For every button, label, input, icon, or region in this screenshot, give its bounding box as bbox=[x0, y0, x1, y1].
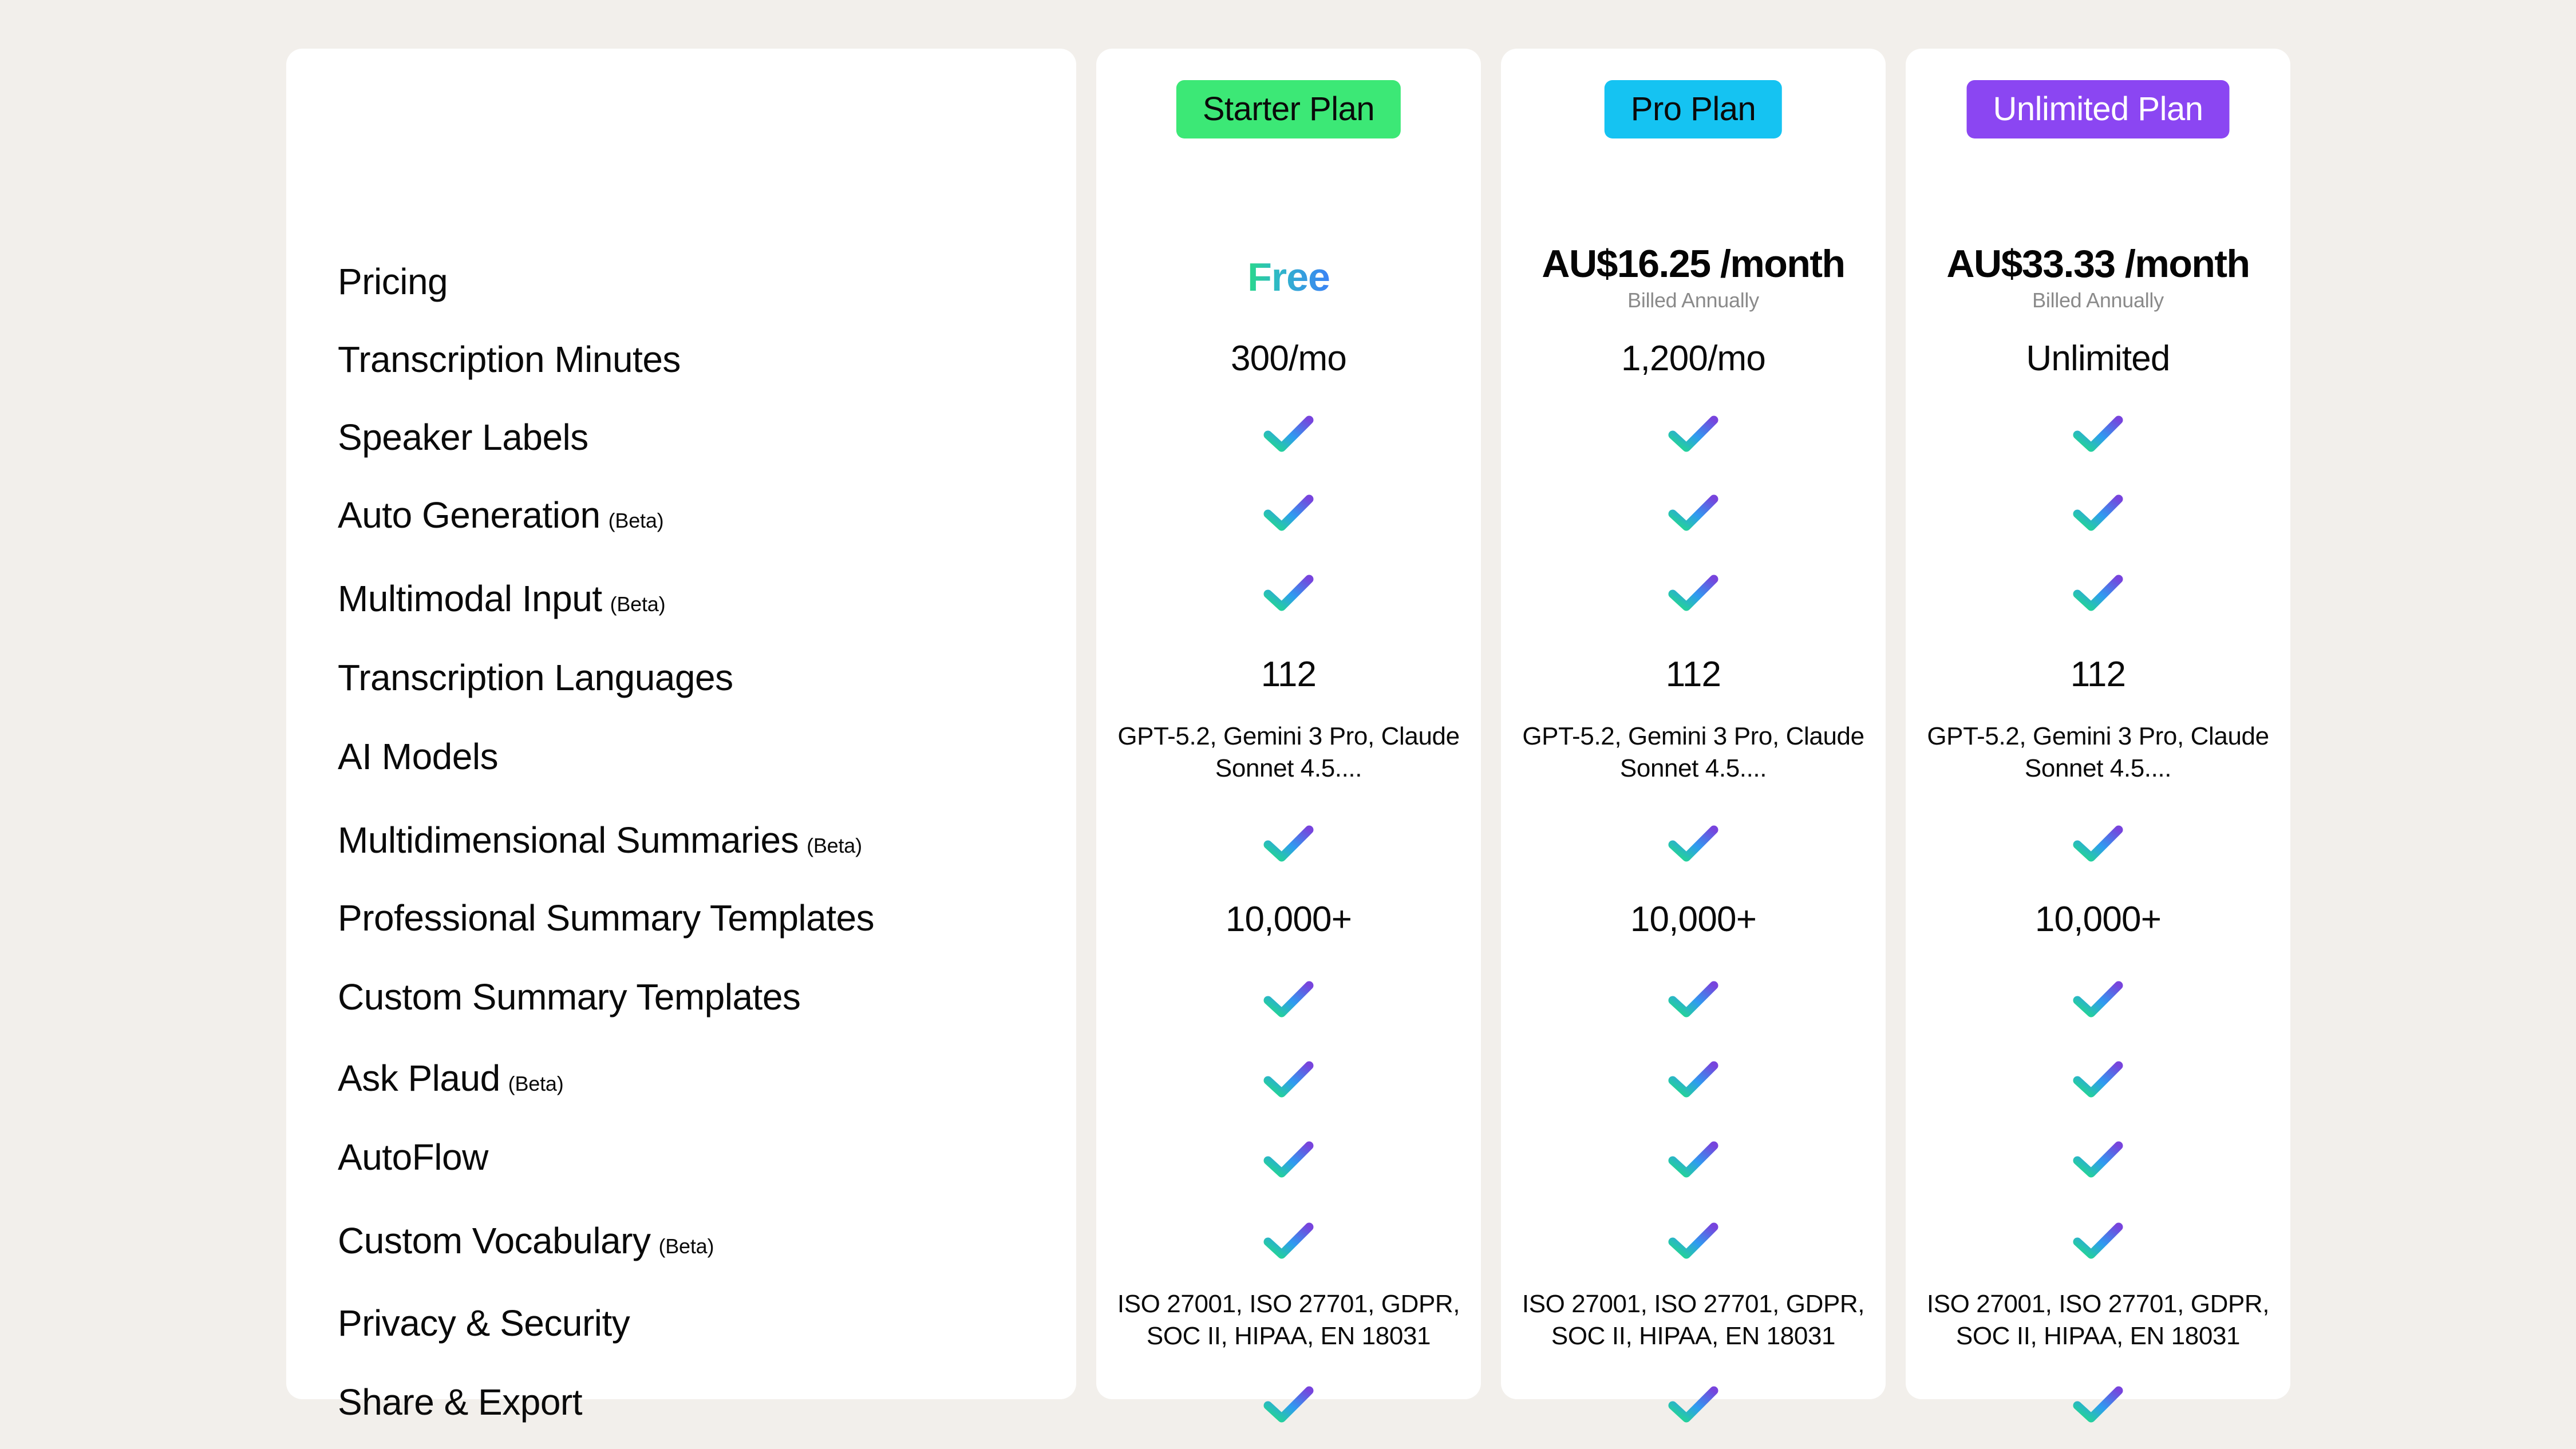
check-icon bbox=[1261, 1139, 1316, 1181]
check-icon bbox=[1666, 1139, 1721, 1181]
plan-cell bbox=[1906, 1130, 2290, 1190]
check-icon bbox=[2071, 1220, 2125, 1262]
feature-label: Share & Export bbox=[338, 1381, 582, 1423]
plan-cell bbox=[1501, 1212, 1886, 1271]
plan-cell bbox=[1906, 1050, 2290, 1110]
check-icon bbox=[2071, 1384, 2125, 1426]
check-icon bbox=[1261, 823, 1316, 865]
plan-card-starter[interactable]: Starter PlanFree300/mo112GPT-5.2, Gemini… bbox=[1096, 49, 1481, 1399]
feature-row: Share & Export bbox=[338, 1381, 582, 1423]
check-icon bbox=[2071, 492, 2125, 535]
plan-cell bbox=[1906, 405, 2290, 464]
plan-badge-pro[interactable]: Pro Plan bbox=[1605, 80, 1782, 138]
feature-row: Privacy & Security bbox=[338, 1302, 630, 1344]
feature-row: Auto Generation(Beta) bbox=[338, 494, 663, 536]
feature-row: Transcription Minutes bbox=[338, 338, 681, 381]
check-icon bbox=[1666, 1059, 1721, 1101]
plan-price-free: Free bbox=[1247, 256, 1330, 299]
check-icon bbox=[1666, 1384, 1721, 1426]
plan-cell: 10,000+ bbox=[1906, 890, 2290, 949]
plan-cell bbox=[1096, 564, 1481, 623]
feature-label: Custom Summary Templates bbox=[338, 976, 800, 1018]
check-icon bbox=[1666, 823, 1721, 865]
check-icon bbox=[1261, 492, 1316, 535]
feature-row: Custom Summary Templates bbox=[338, 976, 800, 1018]
plan-cell bbox=[1096, 1130, 1481, 1190]
feature-beta-tag: (Beta) bbox=[609, 509, 664, 533]
plan-cell-value: 300/mo bbox=[1231, 339, 1346, 378]
plan-cell bbox=[1906, 484, 2290, 543]
feature-labels-card: PricingTranscription MinutesSpeaker Labe… bbox=[286, 49, 1076, 1399]
feature-row: Multidimensional Summaries(Beta) bbox=[338, 819, 862, 861]
feature-label: Multidimensional Summaries bbox=[338, 819, 799, 861]
feature-beta-tag: (Beta) bbox=[508, 1072, 564, 1096]
plan-cell: AU$33.33 /monthBilled Annually bbox=[1906, 248, 2290, 307]
plan-cell-value: 10,000+ bbox=[1630, 900, 1756, 939]
feature-label: Auto Generation bbox=[338, 494, 600, 536]
check-icon bbox=[2071, 1139, 2125, 1181]
plan-cell-value: 112 bbox=[1261, 655, 1316, 694]
feature-label: Transcription Languages bbox=[338, 656, 733, 699]
plan-cell bbox=[1501, 1130, 1886, 1190]
plan-cell-value: Unlimited bbox=[2026, 339, 2170, 378]
pricing-comparison-board: PricingTranscription MinutesSpeaker Labe… bbox=[0, 0, 2576, 1449]
plan-cell bbox=[1906, 564, 2290, 623]
plan-card-unlimited[interactable]: Unlimited PlanAU$33.33 /monthBilled Annu… bbox=[1906, 49, 2290, 1399]
plan-cell-value: 112 bbox=[2071, 655, 2125, 694]
plan-cell bbox=[1501, 814, 1886, 874]
feature-label: Speaker Labels bbox=[338, 416, 588, 458]
feature-label: Professional Summary Templates bbox=[338, 897, 874, 939]
plan-cell bbox=[1501, 564, 1886, 623]
plan-badge-starter[interactable]: Starter Plan bbox=[1176, 80, 1401, 138]
feature-label: AI Models bbox=[338, 735, 498, 778]
feature-label: Pricing bbox=[338, 260, 448, 303]
check-icon bbox=[1261, 413, 1316, 456]
check-icon bbox=[1666, 413, 1721, 456]
feature-row: Custom Vocabulary(Beta) bbox=[338, 1220, 714, 1262]
feature-label: Privacy & Security bbox=[338, 1302, 630, 1344]
feature-row: Multimodal Input(Beta) bbox=[338, 577, 665, 620]
plan-cell: GPT-5.2, Gemini 3 Pro, Claude Sonnet 4.5… bbox=[1906, 723, 2290, 782]
feature-label: Multimodal Input bbox=[338, 577, 602, 620]
plan-cell bbox=[1096, 1050, 1481, 1110]
plan-cell bbox=[1501, 1050, 1886, 1110]
plan-price: AU$16.25 /month bbox=[1542, 244, 1844, 284]
feature-row: AI Models bbox=[338, 735, 498, 778]
check-icon bbox=[1261, 979, 1316, 1021]
check-icon bbox=[1666, 572, 1721, 615]
feature-beta-tag: (Beta) bbox=[610, 592, 666, 616]
plan-cell-value: 10,000+ bbox=[2035, 900, 2161, 939]
plan-card-pro[interactable]: Pro PlanAU$16.25 /monthBilled Annually1,… bbox=[1501, 49, 1886, 1399]
feature-row: Ask Plaud(Beta) bbox=[338, 1057, 564, 1099]
check-icon bbox=[1666, 1220, 1721, 1262]
plan-cell bbox=[1501, 405, 1886, 464]
check-icon bbox=[1261, 1220, 1316, 1262]
check-icon bbox=[2071, 572, 2125, 615]
plan-cell-detail: ISO 27001, ISO 27701, GDPR, SOC II, HIPA… bbox=[1117, 1288, 1460, 1353]
feature-beta-tag: (Beta) bbox=[658, 1234, 714, 1258]
plan-cell bbox=[1501, 970, 1886, 1030]
plan-cell: ISO 27001, ISO 27701, GDPR, SOC II, HIPA… bbox=[1096, 1290, 1481, 1350]
plan-cell: GPT-5.2, Gemini 3 Pro, Claude Sonnet 4.5… bbox=[1096, 723, 1481, 782]
plan-cell: Free bbox=[1096, 248, 1481, 307]
feature-label: Ask Plaud bbox=[338, 1057, 500, 1099]
feature-row: Speaker Labels bbox=[338, 416, 588, 458]
check-icon bbox=[1666, 492, 1721, 535]
plan-cell: 10,000+ bbox=[1501, 890, 1886, 949]
plan-cell-detail: ISO 27001, ISO 27701, GDPR, SOC II, HIPA… bbox=[1926, 1288, 2270, 1353]
plan-cell: ISO 27001, ISO 27701, GDPR, SOC II, HIPA… bbox=[1501, 1290, 1886, 1350]
check-icon bbox=[1666, 979, 1721, 1021]
feature-row: Pricing bbox=[338, 260, 448, 303]
feature-row: AutoFlow bbox=[338, 1136, 488, 1178]
plan-billing-note: Billed Annually bbox=[2032, 289, 2164, 312]
plan-cell: Unlimited bbox=[1906, 329, 2290, 389]
check-icon bbox=[2071, 1059, 2125, 1101]
plan-cell: 10,000+ bbox=[1096, 890, 1481, 949]
plan-billing-note: Billed Annually bbox=[1627, 289, 1759, 312]
plan-cell bbox=[1096, 970, 1481, 1030]
check-icon bbox=[2071, 979, 2125, 1021]
plan-cell: ISO 27001, ISO 27701, GDPR, SOC II, HIPA… bbox=[1906, 1290, 2290, 1350]
plan-cell: 300/mo bbox=[1096, 329, 1481, 389]
plan-cell-value: 1,200/mo bbox=[1621, 339, 1765, 378]
plan-price: AU$33.33 /month bbox=[1946, 244, 2249, 284]
feature-label: Transcription Minutes bbox=[338, 338, 681, 381]
plan-cell bbox=[1906, 814, 2290, 874]
plan-cell: 112 bbox=[1501, 645, 1886, 704]
plan-cell-detail: GPT-5.2, Gemini 3 Pro, Claude Sonnet 4.5… bbox=[1522, 720, 1865, 785]
plan-cell bbox=[1096, 405, 1481, 464]
feature-row: Transcription Languages bbox=[338, 656, 733, 699]
plan-cell: 1,200/mo bbox=[1501, 329, 1886, 389]
plan-cell bbox=[1906, 1212, 2290, 1271]
plan-cell: AU$16.25 /monthBilled Annually bbox=[1501, 248, 1886, 307]
feature-label-list: PricingTranscription MinutesSpeaker Labe… bbox=[286, 49, 1076, 1399]
check-icon bbox=[1261, 1384, 1316, 1426]
plan-cell bbox=[1096, 1212, 1481, 1271]
check-icon bbox=[2071, 413, 2125, 456]
plan-cell bbox=[1906, 970, 2290, 1030]
plan-cell bbox=[1096, 814, 1481, 874]
feature-beta-tag: (Beta) bbox=[807, 834, 862, 858]
check-icon bbox=[2071, 823, 2125, 865]
plan-cell bbox=[1096, 484, 1481, 543]
plan-cell-value: 10,000+ bbox=[1226, 900, 1352, 939]
plan-cell bbox=[1501, 1375, 1886, 1435]
plan-cell: GPT-5.2, Gemini 3 Pro, Claude Sonnet 4.5… bbox=[1501, 723, 1886, 782]
plan-cell bbox=[1501, 484, 1886, 543]
feature-label: AutoFlow bbox=[338, 1136, 488, 1178]
plan-cell bbox=[1096, 1375, 1481, 1435]
plan-cell-value: 112 bbox=[1666, 655, 1721, 694]
plan-cell-detail: ISO 27001, ISO 27701, GDPR, SOC II, HIPA… bbox=[1522, 1288, 1865, 1353]
plan-cell-detail: GPT-5.2, Gemini 3 Pro, Claude Sonnet 4.5… bbox=[1926, 720, 2270, 785]
plan-cell: 112 bbox=[1096, 645, 1481, 704]
feature-row: Professional Summary Templates bbox=[338, 897, 874, 939]
plan-cell bbox=[1906, 1375, 2290, 1435]
plan-cell-detail: GPT-5.2, Gemini 3 Pro, Claude Sonnet 4.5… bbox=[1117, 720, 1460, 785]
check-icon bbox=[1261, 572, 1316, 615]
feature-label: Custom Vocabulary bbox=[338, 1220, 650, 1262]
check-icon bbox=[1261, 1059, 1316, 1101]
plan-badge-unlimited[interactable]: Unlimited Plan bbox=[1967, 80, 2230, 138]
plan-cell: 112 bbox=[1906, 645, 2290, 704]
